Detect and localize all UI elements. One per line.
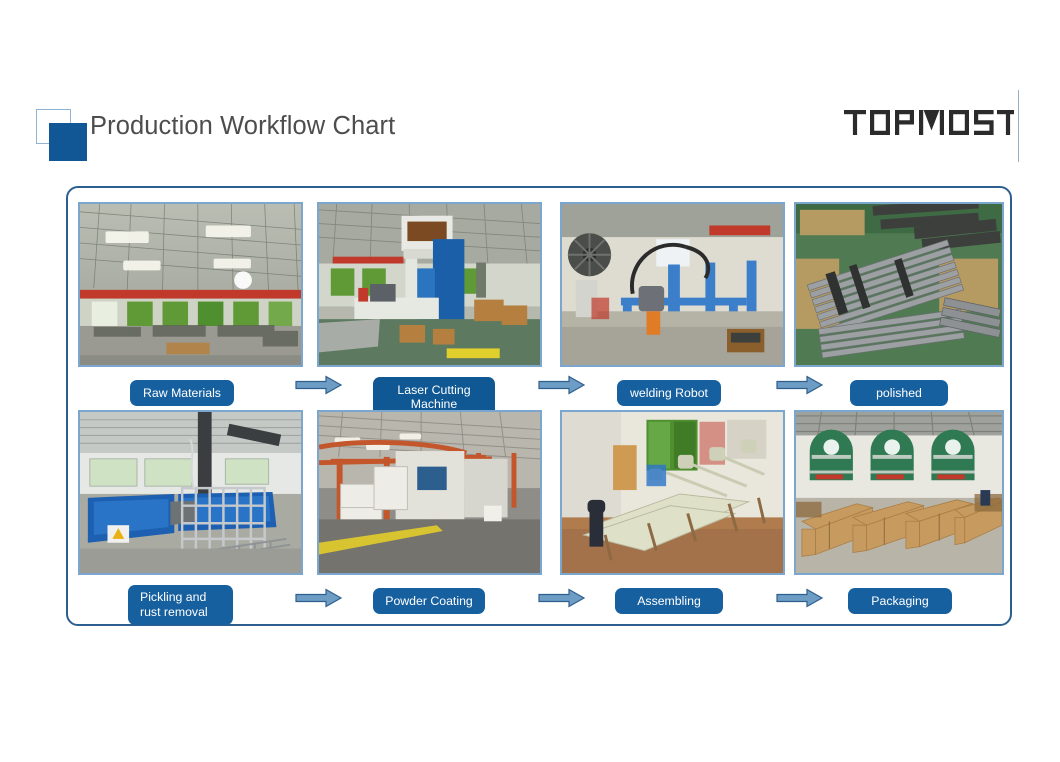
square-solid-icon — [49, 123, 87, 161]
right-arrow-icon-3 — [776, 375, 824, 395]
workflow-step-5[interactable]: Pickling and rust removal — [78, 410, 303, 575]
step-7-label: Assembling — [615, 588, 723, 614]
workflow-step-1[interactable]: Raw Materials — [78, 202, 303, 367]
step-7-photo — [560, 410, 785, 575]
step-1-label: Raw Materials — [130, 380, 234, 406]
header-divider — [1018, 90, 1019, 162]
workflow-step-2[interactable]: Laser Cutting Machine — [317, 202, 542, 367]
workflow-step-4[interactable]: polished — [794, 202, 1004, 367]
step-5-label: Pickling and rust removal — [128, 585, 233, 625]
page-title: Production Workflow Chart — [90, 112, 395, 141]
page-header: Production Workflow Chart — [0, 0, 1060, 180]
step-3-label: welding Robot — [617, 380, 721, 406]
step-6-label: Powder Coating — [373, 588, 485, 614]
step-1-photo — [78, 202, 303, 367]
right-arrow-icon-2 — [538, 375, 586, 395]
step-3-photo — [560, 202, 785, 367]
right-arrow-icon-4 — [295, 588, 343, 608]
step-8-photo — [794, 410, 1004, 575]
step-6-photo — [317, 410, 542, 575]
square-pair-icon — [36, 109, 88, 161]
workflow-step-7[interactable]: Assembling — [560, 410, 785, 575]
right-arrow-icon-5 — [538, 588, 586, 608]
workflow-step-6[interactable]: Powder Coating — [317, 410, 542, 575]
step-8-label: Packaging — [848, 588, 952, 614]
step-4-label: polished — [850, 380, 948, 406]
step-2-photo — [317, 202, 542, 367]
workflow-step-3[interactable]: welding Robot — [560, 202, 785, 367]
right-arrow-icon-6 — [776, 588, 824, 608]
workflow-frame: Raw Materials — [66, 186, 1012, 626]
workflow-step-8[interactable]: Packaging — [794, 410, 1004, 575]
step-4-photo — [794, 202, 1004, 367]
right-arrow-icon-1 — [295, 375, 343, 395]
step-5-photo — [78, 410, 303, 575]
brand-logo — [844, 104, 1014, 144]
